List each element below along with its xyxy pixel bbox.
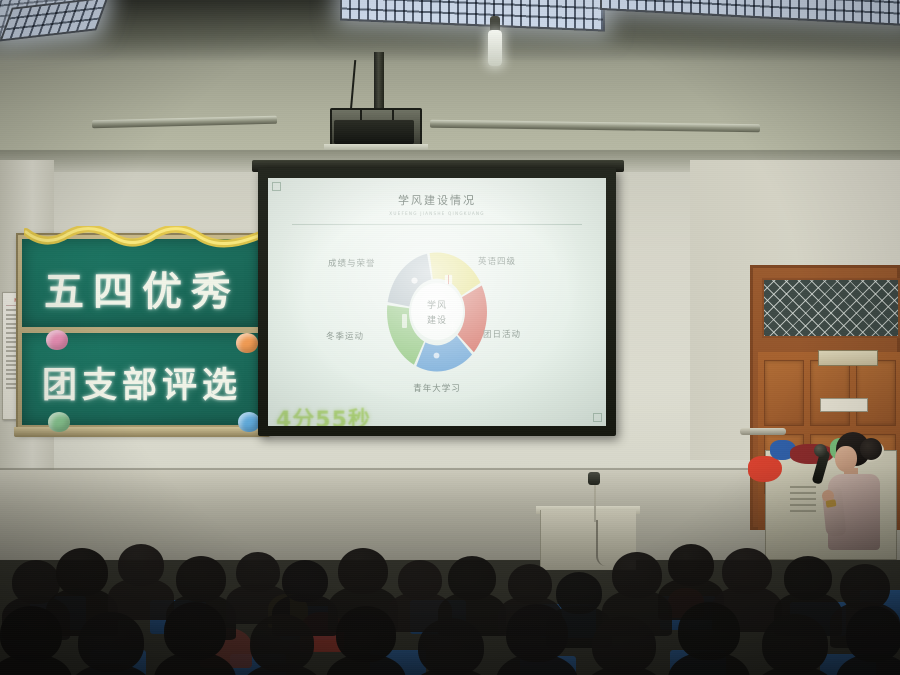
slide-title-rule [292,224,582,225]
audience-head [118,544,164,586]
donut-label-winter-sports: 冬季运动 [326,330,364,342]
donut-center-line1: 学风 [427,298,447,311]
audience-head [678,602,740,660]
audience-head [506,604,568,662]
donut-chart: 学风 建设 [385,250,489,374]
screen-corner-br [593,413,602,422]
projector-mount-pole [374,52,384,114]
audience-head [236,552,280,592]
audience-head [846,606,900,662]
presenter-hair-bun [860,438,882,460]
door-panel-1 [764,360,804,426]
donut-label-achievements: 成绩与荣誉 [328,257,376,269]
book-icon [443,274,454,285]
balloon-orange [236,333,258,353]
audience-head [722,548,772,594]
audience-head [398,560,442,600]
audience-head [338,548,388,594]
door-sign [818,350,878,366]
door-name-plate [820,398,868,412]
donut-segment-3 [416,336,472,372]
donut-center-label: 学风 建设 [411,283,463,340]
audience-head [164,602,226,660]
audience-head [668,544,714,586]
door-panel-3 [856,360,896,426]
audience-head [250,614,314,672]
audience-head [592,616,656,674]
audience-head [448,556,496,600]
audience-head [840,564,890,610]
screen-corner-tl [272,182,281,191]
donut-label-league-activities: 团日活动 [483,328,521,340]
audience-head [556,572,602,614]
audience-head [282,560,328,602]
microphone-head-icon [814,444,827,457]
audience [0,475,900,675]
snowflake-icon [447,320,458,331]
audience-head [336,606,396,662]
slide-subtitle: XUEFENG JIANSHE QINGKUANG [268,211,606,216]
timer-watermark: 4分55秒 [276,402,476,426]
audience-head [612,552,662,598]
donut-label-english-cet4: 英语四级 [478,255,516,267]
door-grille-window [762,278,900,338]
audience-head [78,612,144,672]
donut-center-line2: 建设 [427,313,447,326]
audience-head [0,606,62,662]
flag-icon [400,312,409,330]
balloon-pink [46,330,68,350]
hanging-bulb-icon [488,16,502,66]
blackboard-text-line1: 五四优秀 [22,259,262,317]
slide-title: 学风建设情况 [268,192,606,208]
audience-head [762,614,828,674]
audience-head [176,556,226,602]
door-panel-2 [810,360,850,426]
projection-screen-surface: 学风建设情况 XUEFENG JIANSHE QINGKUANG 学风 建设 [268,178,606,426]
projector-body [334,120,414,144]
audience-head [418,618,484,675]
balloon-green [48,412,70,432]
audience-head [508,564,552,604]
balloon-blue [238,412,260,432]
study-icon [431,350,442,361]
trophy-icon [409,276,420,287]
audience-head [784,556,832,600]
audience-head [56,548,108,596]
donut-label-youth-study: 青年大学习 [268,382,606,394]
classroom-photo: 通 知 五四优秀 团支部评选 学风建设情况 XUEFENG JIANSHE QI… [0,0,900,675]
blackboard-panel-top: 五四优秀 [22,239,262,327]
wall-shelf-bar [740,428,786,435]
blackboard-text-line2: 团支部评选 [22,357,262,408]
